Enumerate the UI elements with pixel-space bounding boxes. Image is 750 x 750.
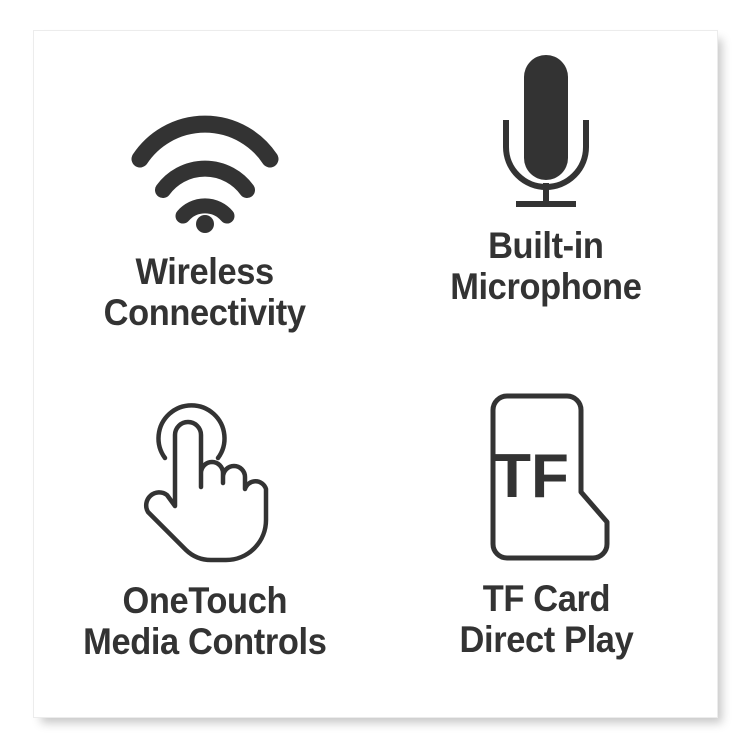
- caption-line-1: Built-in: [451, 225, 642, 266]
- microphone-icon: [491, 51, 601, 213]
- feature-caption-tf-card: TF Card Direct Play: [459, 578, 633, 661]
- caption-line-1: TF Card: [459, 578, 633, 619]
- feature-built-in-microphone: Built-in Microphone: [376, 31, 718, 374]
- feature-onetouch-media-controls: OneTouch Media Controls: [34, 374, 376, 717]
- microphone-icon-wrap: [491, 31, 601, 213]
- caption-line-2: Microphone: [451, 266, 642, 307]
- caption-line-2: Media Controls: [83, 621, 326, 662]
- tap-hand-icon-wrap: [135, 374, 275, 562]
- feature-grid: Wireless Connectivity Built-in Microphon…: [34, 31, 717, 717]
- tap-hand-icon: [135, 394, 275, 562]
- tf-card-label: TF: [493, 442, 569, 511]
- feature-caption-wireless: Wireless Connectivity: [104, 251, 306, 334]
- tf-card-icon: TF: [479, 394, 613, 560]
- caption-line-1: OneTouch: [83, 580, 326, 621]
- caption-line-2: Direct Play: [459, 619, 633, 660]
- wifi-icon-wrap: [130, 31, 280, 229]
- feature-caption-onetouch: OneTouch Media Controls: [83, 580, 326, 663]
- feature-highlight-card: Wireless Connectivity Built-in Microphon…: [33, 30, 718, 718]
- feature-wireless-connectivity: Wireless Connectivity: [34, 31, 376, 374]
- feature-caption-microphone: Built-in Microphone: [451, 225, 642, 308]
- wifi-icon: [130, 119, 280, 229]
- tf-card-icon-wrap: TF: [479, 374, 613, 560]
- caption-line-1: Wireless: [104, 251, 306, 292]
- feature-tf-card-direct-play: TF TF Card Direct Play: [376, 374, 718, 717]
- caption-line-2: Connectivity: [104, 292, 306, 333]
